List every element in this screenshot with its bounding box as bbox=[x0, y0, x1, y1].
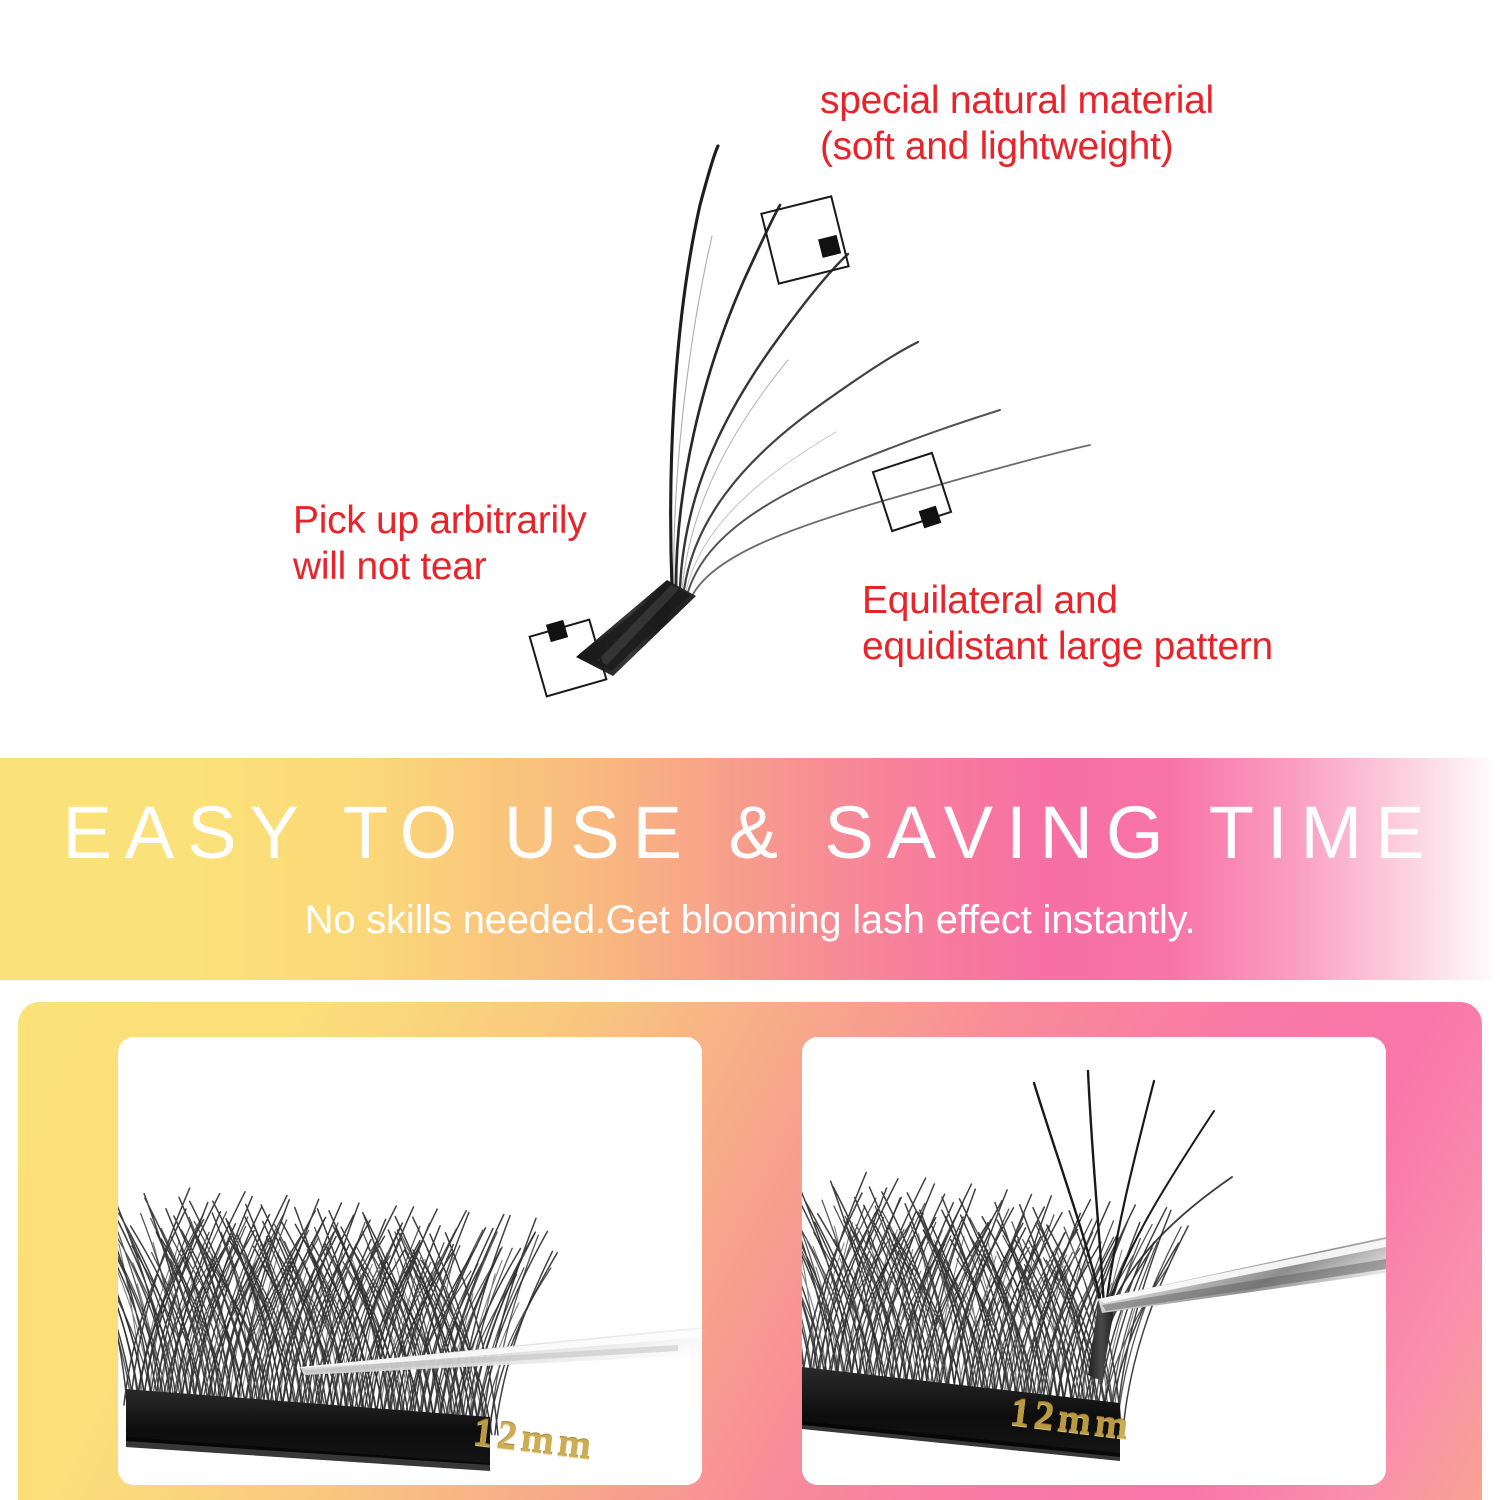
banner-title: EASY TO USE & SAVING TIME bbox=[0, 796, 1500, 870]
photo-panel-lash-tray: 12mm bbox=[118, 1037, 702, 1485]
photo-gallery-frame: 12mm bbox=[18, 1002, 1482, 1500]
callout-equilateral-pattern: Equilateral and equidistant large patter… bbox=[862, 578, 1273, 670]
product-infographic-page: special natural material (soft and light… bbox=[0, 0, 1500, 1500]
banner-subtitle: No skills needed.Get blooming lash effec… bbox=[0, 900, 1500, 940]
lash-fan-diagram bbox=[0, 0, 1500, 758]
callout-will-not-tear: Pick up arbitrarily will not tear bbox=[293, 498, 586, 590]
lash-base-strip bbox=[576, 580, 696, 676]
photo-panel-fan-pickup: 12mm bbox=[802, 1037, 1386, 1485]
lash-fibers bbox=[671, 146, 1090, 596]
callout-special-material: special natural material (soft and light… bbox=[820, 78, 1214, 170]
diagram-section: special natural material (soft and light… bbox=[0, 0, 1500, 758]
marker-top bbox=[761, 196, 848, 283]
headline-banner: EASY TO USE & SAVING TIME No skills need… bbox=[0, 758, 1500, 980]
lash-tray-photo bbox=[118, 1037, 702, 1485]
